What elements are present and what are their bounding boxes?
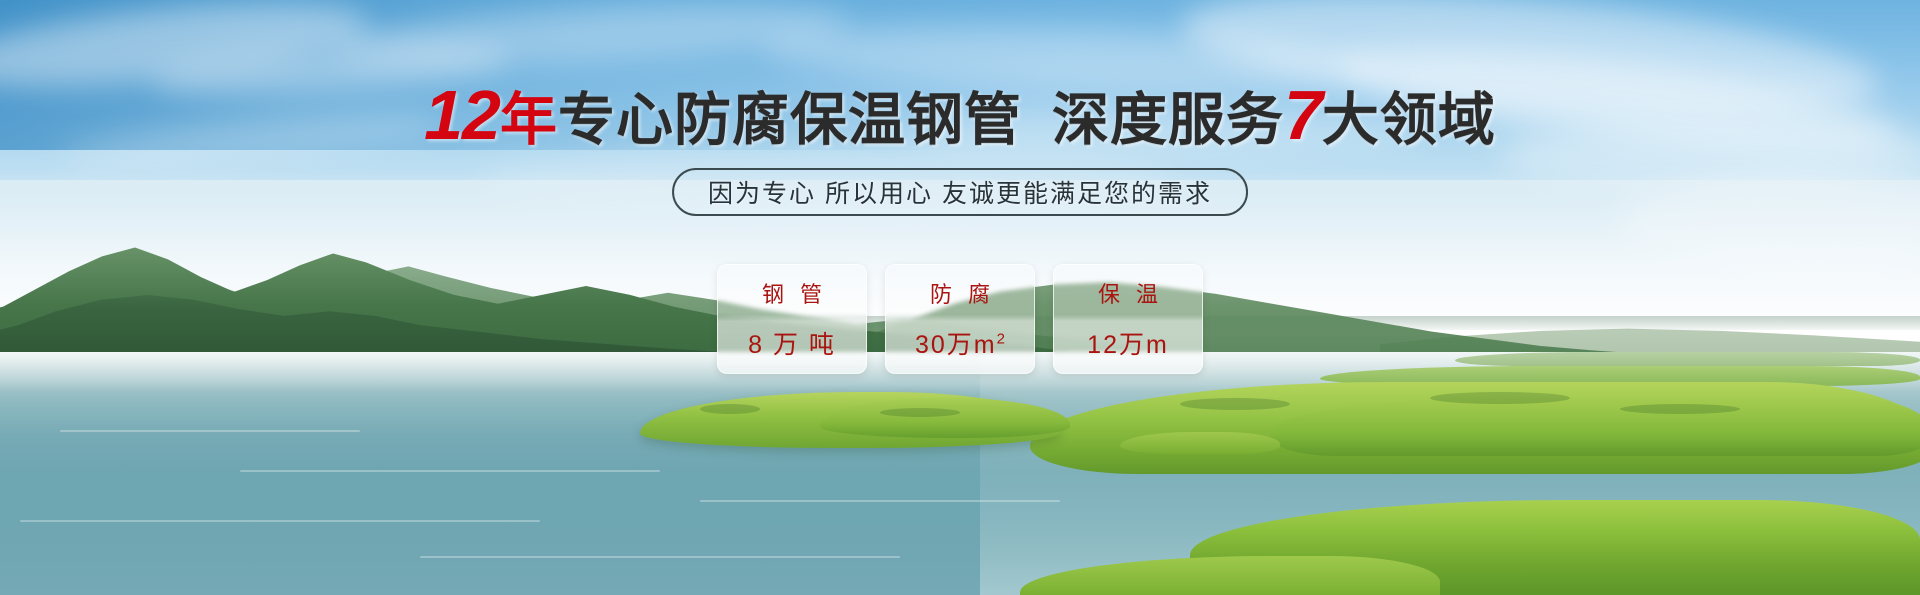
- stat-card-label: 保 温: [1093, 277, 1163, 309]
- headline-part-one: 专心防腐保温钢管: [558, 88, 1022, 152]
- stat-card-list: 钢 管 8 万 吨 防 腐 30万m2 保 温 12万m: [717, 264, 1203, 374]
- grass-island-far: [1455, 352, 1920, 366]
- grass-island-right-lower: [1270, 398, 1920, 456]
- water-ripple: [420, 556, 900, 558]
- banner-subtitle-text: 因为专心 所以用心 友诚更能满足您的需求: [708, 174, 1212, 210]
- stat-card-steel-pipe: 钢 管 8 万 吨: [717, 264, 867, 374]
- stat-card-value: 30万m2: [915, 325, 1005, 361]
- headline-part-three: 大领域: [1322, 88, 1496, 152]
- grass-texture: [1180, 398, 1290, 410]
- headline-part-two: 深度服务: [1052, 88, 1284, 152]
- stat-card-unit-superscript: 2: [997, 331, 1005, 348]
- stat-card-value: 8 万 吨: [748, 325, 836, 361]
- stat-card-value: 12万m: [1087, 325, 1169, 361]
- grass-texture: [1620, 404, 1740, 414]
- water-ripple: [700, 500, 1060, 502]
- stat-card-value-text: 8 万 吨: [748, 331, 836, 359]
- stat-card-insulation: 保 温 12万m: [1053, 264, 1203, 374]
- water-ripple: [20, 520, 540, 522]
- banner-subtitle-pill: 因为专心 所以用心 友诚更能满足您的需求: [672, 168, 1248, 216]
- water-ripple: [60, 430, 360, 432]
- hero-banner: 12年专心防腐保温钢管深度服务7大领域 因为专心 所以用心 友诚更能满足您的需求…: [0, 0, 1920, 595]
- headline-number-years: 12: [424, 76, 500, 154]
- stat-card-label: 钢 管: [757, 277, 827, 309]
- grass-texture: [1430, 392, 1570, 404]
- grass-texture: [700, 404, 760, 414]
- headline-number-fields: 7: [1284, 76, 1322, 154]
- banner-headline: 12年专心防腐保温钢管深度服务7大领域: [0, 82, 1920, 153]
- stat-card-value-text: 30万m: [915, 331, 997, 359]
- water-ripple: [240, 470, 660, 472]
- grass-island-small: [1120, 432, 1280, 454]
- stat-card-label: 防 腐: [925, 277, 995, 309]
- grass-texture: [880, 408, 960, 417]
- headline-year-unit: 年: [500, 88, 558, 152]
- stat-card-value-text: 12万m: [1087, 331, 1169, 359]
- stat-card-anticorrosion: 防 腐 30万m2: [885, 264, 1035, 374]
